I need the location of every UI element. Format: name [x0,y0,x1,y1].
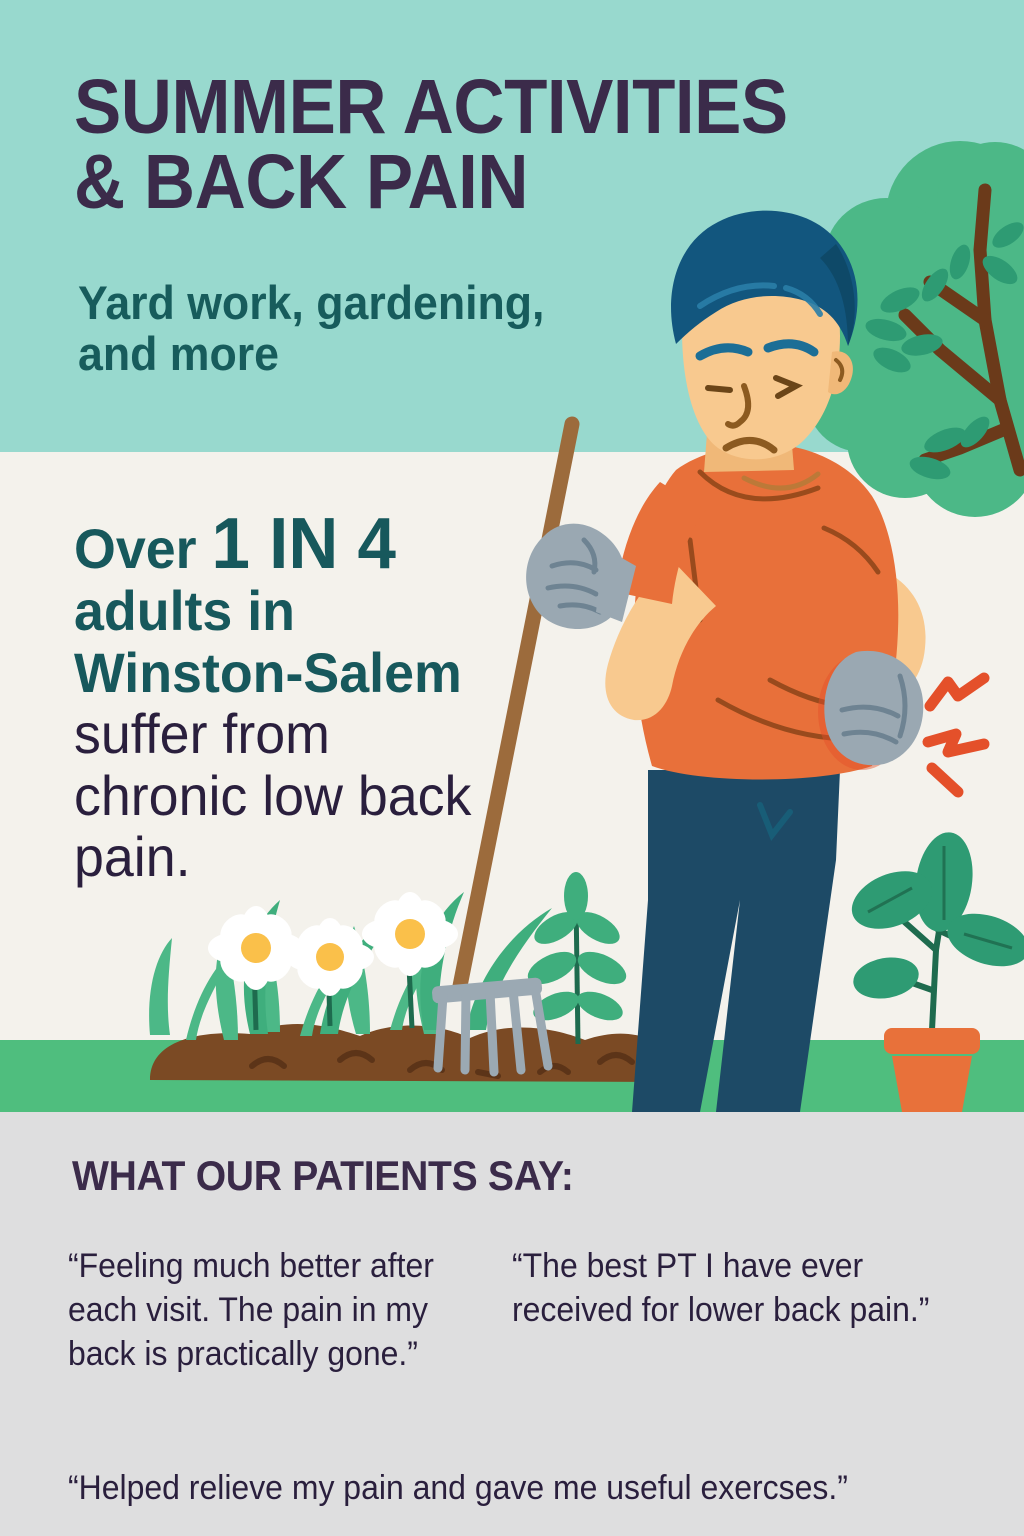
stat-highlight: 1 IN 4 [211,504,395,584]
infographic-poster: SUMMER ACTIVITIES & BACK PAIN Yard work,… [0,0,1024,1536]
stat-line5: chronic low back [74,764,471,827]
statistic-block: Over 1 IN 4 adults in Winston-Salem suff… [74,508,525,888]
page-subtitle: Yard work, gardening, and more [78,278,686,380]
testimonial-quote: “The best PT I have ever received for lo… [512,1244,944,1332]
testimonials-heading: WHAT OUR PATIENTS SAY: [72,1152,574,1200]
stat-line3: Winston-Salem [74,641,462,704]
testimonial-quote: “Feeling much better after each visit. T… [68,1244,472,1377]
stat-line2: adults in [74,579,295,642]
page-title: SUMMER ACTIVITIES & BACK PAIN [74,70,902,221]
text-layer: SUMMER ACTIVITIES & BACK PAIN Yard work,… [0,0,1024,1536]
stat-line4: suffer from [74,702,330,765]
stat-line6: pain. [74,825,191,888]
stat-lead: Over [74,517,211,580]
testimonial-quote: “Helped relieve my pain and gave me usef… [68,1466,1008,1510]
